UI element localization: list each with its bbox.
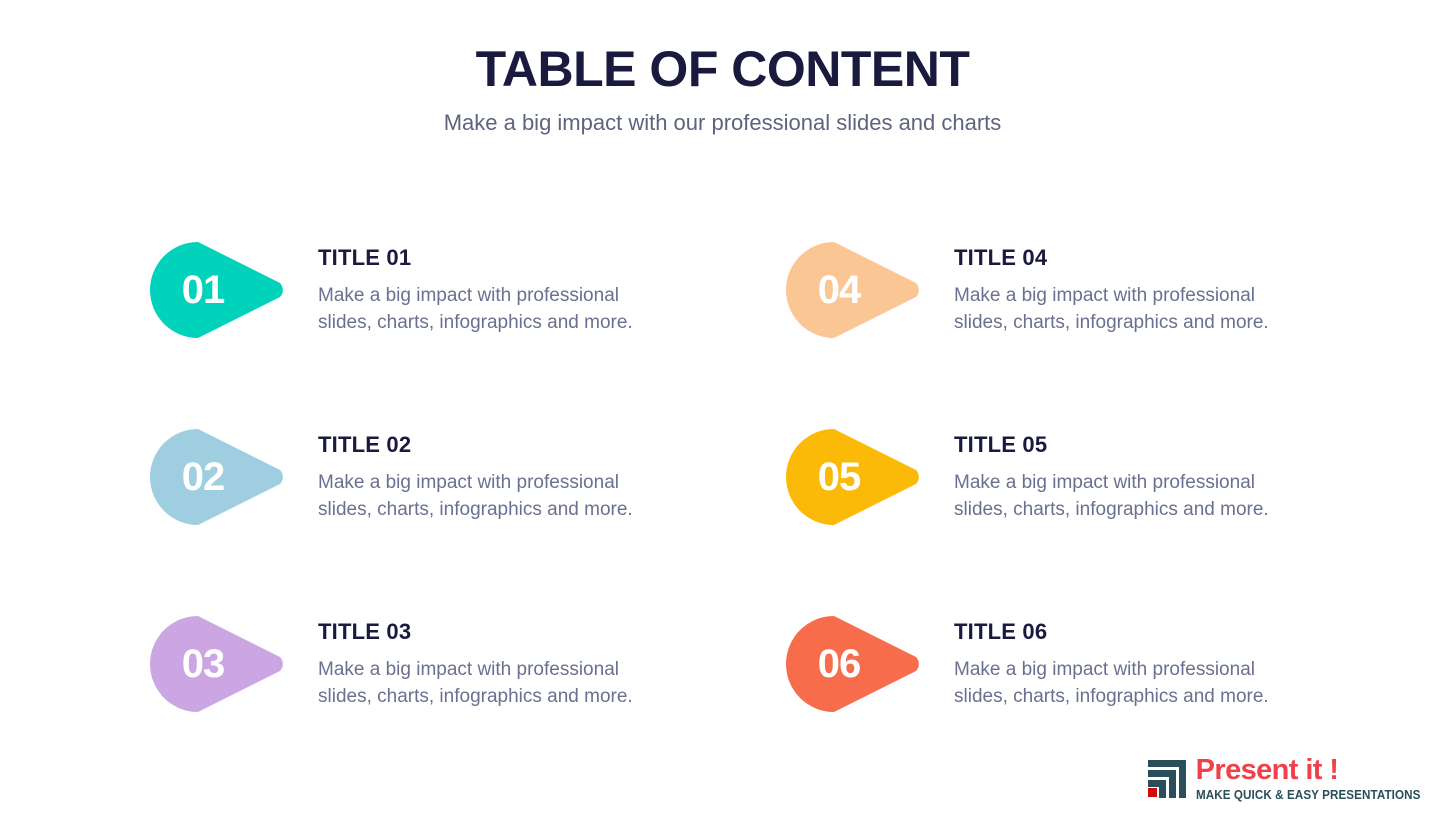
toc-item-text: TITLE 02 Make a big impact with professi… xyxy=(318,423,658,524)
brand-logo: Present it ! MAKE QUICK & EASY PRESENTAT… xyxy=(1146,756,1437,802)
pin-marker-icon: 06 xyxy=(788,614,934,714)
item-description: Make a big impact with professional slid… xyxy=(318,657,658,711)
pin-number: 04 xyxy=(788,240,884,340)
toc-item-02[interactable]: 02 TITLE 02 Make a big impact with profe… xyxy=(152,423,788,610)
item-title: TITLE 06 xyxy=(954,620,1294,644)
pin-number: 03 xyxy=(152,614,248,714)
toc-item-text: TITLE 01 Make a big impact with professi… xyxy=(318,236,658,337)
pin-number: 01 xyxy=(152,240,248,340)
page-subtitle: Make a big impact with our professional … xyxy=(0,109,1445,137)
pin-number: 02 xyxy=(152,427,248,527)
item-description: Make a big impact with professional slid… xyxy=(318,470,658,524)
slide-header: TABLE OF CONTENT Make a big impact with … xyxy=(0,42,1445,137)
pin-marker-icon: 05 xyxy=(788,427,934,527)
pin-number: 05 xyxy=(788,427,884,527)
item-title: TITLE 05 xyxy=(954,433,1294,457)
pin-number: 06 xyxy=(788,614,884,714)
pin-marker-icon: 03 xyxy=(152,614,298,714)
toc-item-text: TITLE 03 Make a big impact with professi… xyxy=(318,610,658,711)
toc-item-01[interactable]: 01 TITLE 01 Make a big impact with profe… xyxy=(152,236,788,423)
page-title: TABLE OF CONTENT xyxy=(0,42,1445,96)
item-title: TITLE 02 xyxy=(318,433,658,457)
item-description: Make a big impact with professional slid… xyxy=(954,470,1294,524)
logo-wordmark: Present it ! xyxy=(1196,756,1437,785)
logo-mark-icon xyxy=(1146,758,1188,798)
toc-item-06[interactable]: 06 TITLE 06 Make a big impact with profe… xyxy=(788,610,1332,720)
content-grid: 01 TITLE 01 Make a big impact with profe… xyxy=(152,236,1332,720)
item-title: TITLE 01 xyxy=(318,246,658,270)
toc-item-text: TITLE 06 Make a big impact with professi… xyxy=(954,610,1294,711)
pin-marker-icon: 04 xyxy=(788,240,934,340)
toc-item-text: TITLE 04 Make a big impact with professi… xyxy=(954,236,1294,337)
item-description: Make a big impact with professional slid… xyxy=(318,283,658,337)
logo-tagline: MAKE QUICK & EASY PRESENTATIONS xyxy=(1196,789,1420,802)
toc-item-05[interactable]: 05 TITLE 05 Make a big impact with profe… xyxy=(788,423,1332,610)
item-title: TITLE 03 xyxy=(318,620,658,644)
pin-marker-icon: 02 xyxy=(152,427,298,527)
item-description: Make a big impact with professional slid… xyxy=(954,283,1294,337)
toc-item-03[interactable]: 03 TITLE 03 Make a big impact with profe… xyxy=(152,610,788,720)
slide-canvas: TABLE OF CONTENT Make a big impact with … xyxy=(0,0,1445,813)
toc-item-text: TITLE 05 Make a big impact with professi… xyxy=(954,423,1294,524)
pin-marker-icon: 01 xyxy=(152,240,298,340)
item-description: Make a big impact with professional slid… xyxy=(954,657,1294,711)
toc-item-04[interactable]: 04 TITLE 04 Make a big impact with profe… xyxy=(788,236,1332,423)
item-title: TITLE 04 xyxy=(954,246,1294,270)
logo-text: Present it ! MAKE QUICK & EASY PRESENTAT… xyxy=(1196,756,1437,802)
